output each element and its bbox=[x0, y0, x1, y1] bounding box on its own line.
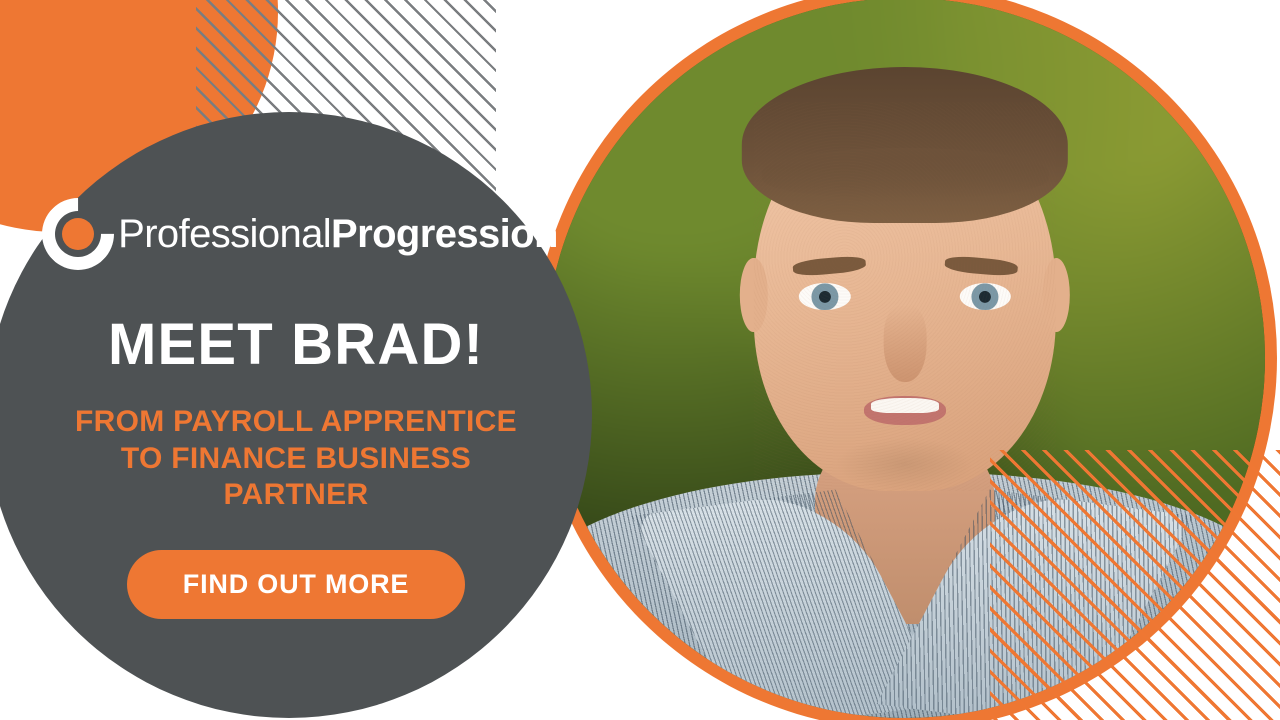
nose bbox=[884, 305, 926, 383]
headline: MEET BRAD! bbox=[108, 316, 484, 374]
head bbox=[754, 102, 1056, 491]
portrait-circle bbox=[533, 0, 1277, 720]
mouth bbox=[864, 396, 946, 425]
ear-right bbox=[1043, 258, 1070, 332]
panel-content: ProfessionalProgression MEET BRAD! FROM … bbox=[0, 112, 592, 718]
portrait-image bbox=[545, 0, 1265, 718]
find-out-more-button[interactable]: FIND OUT MORE bbox=[127, 550, 465, 619]
brand-name-light: Professional bbox=[118, 212, 331, 256]
ear-left bbox=[740, 258, 767, 332]
brand-name: ProfessionalProgression bbox=[118, 214, 558, 254]
eye-right bbox=[959, 283, 1010, 310]
chin bbox=[835, 437, 974, 491]
c-ring-logo-icon bbox=[42, 198, 114, 270]
eyebrow-left bbox=[793, 255, 867, 277]
brand-logo[interactable]: ProfessionalProgression bbox=[42, 198, 558, 270]
portrait-person bbox=[545, 0, 1265, 718]
eyebrow-right bbox=[944, 255, 1018, 277]
promo-banner: ProfessionalProgression MEET BRAD! FROM … bbox=[0, 0, 1280, 720]
brand-name-bold: Progression bbox=[331, 212, 558, 256]
hair bbox=[742, 67, 1069, 223]
subheadline: FROM PAYROLL APPRENTICE TO FINANCE BUSIN… bbox=[61, 404, 531, 514]
eye-left bbox=[799, 283, 850, 310]
